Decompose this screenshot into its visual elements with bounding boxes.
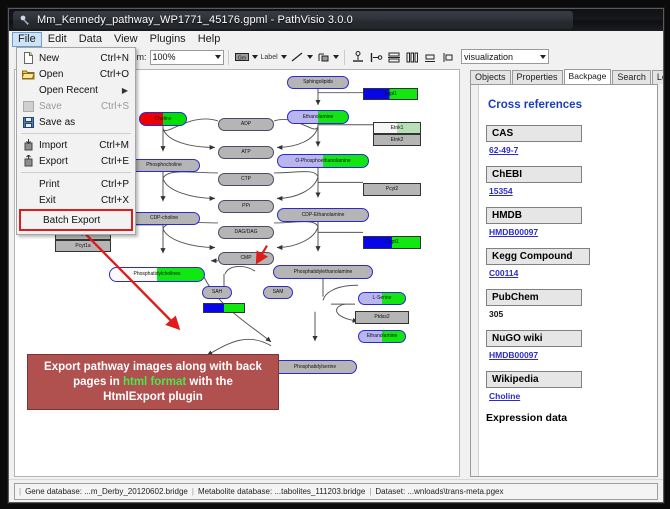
metabolite-cdp-ethanolamine[interactable]: CDP-Ethanolamine xyxy=(277,208,369,222)
menu-item-batch-export-label: Batch Export xyxy=(43,215,131,226)
xref-source-nugo: NuGO wiki xyxy=(486,330,582,347)
xref-value-wikipedia[interactable]: Choline xyxy=(489,391,649,401)
xref-value-hmdb[interactable]: HMDB00097 xyxy=(489,227,649,237)
blank-icon xyxy=(17,83,39,97)
label-tool-label[interactable]: Label xyxy=(259,54,280,61)
status-divider-2: | xyxy=(192,487,194,496)
gene-sgpl1[interactable]: Sgpl1 xyxy=(363,88,418,100)
toolbar-separator xyxy=(228,50,229,65)
title-chip: Mm_Kennedy_pathway_WP1771_45176.gpml - P… xyxy=(13,11,573,29)
menu-view[interactable]: View xyxy=(108,32,144,47)
metabolite-sah[interactable]: SAH xyxy=(202,286,232,299)
annotation-line2-pre: pages in xyxy=(73,376,123,388)
menu-help[interactable]: Help xyxy=(192,32,227,47)
export-icon xyxy=(17,154,39,168)
metabolite-o-phosphoethanolamine[interactable]: O-Phosphoethanolamine xyxy=(277,154,369,168)
metabolite-label: ADP xyxy=(241,122,251,127)
zoom-value: 100% xyxy=(153,52,176,62)
xref-value-chebi[interactable]: 15354 xyxy=(489,186,649,196)
metabolite-atp[interactable]: ATP xyxy=(218,146,274,159)
metabolite-label: O-Phosphoethanolamine xyxy=(295,159,350,164)
gene-ptdss2[interactable]: Ptdss2 xyxy=(355,311,409,324)
gene-label: Etnk1 xyxy=(391,126,404,131)
menu-plugins[interactable]: Plugins xyxy=(144,32,192,47)
metabolite-label: SAM xyxy=(273,290,284,295)
annotation-highlight: html format xyxy=(123,376,186,388)
metabolite-phosphatidylserine[interactable]: Phosphatidylserine xyxy=(273,360,357,374)
metabolite-cmp[interactable]: CMP xyxy=(218,252,274,265)
menu-item-print[interactable]: Print Ctrl+P xyxy=(17,176,135,192)
xref-source-kegg: Kegg Compound xyxy=(486,248,590,265)
import-icon xyxy=(17,138,39,152)
menu-item-new-accel: Ctrl+N xyxy=(100,53,135,64)
tab-legend[interactable]: Legend xyxy=(652,70,664,84)
status-gene-database: Gene database: ...m_Derby_20120602.bridg… xyxy=(25,487,188,496)
menu-item-export[interactable]: Export Ctrl+E xyxy=(17,153,135,169)
gene-label: Etnk2 xyxy=(391,138,404,143)
gene-etnk2[interactable]: Etnk2 xyxy=(373,134,421,146)
cross-references-heading: Cross references xyxy=(488,99,649,111)
stack-center-icon[interactable] xyxy=(386,49,402,65)
xref-source-cas: CAS xyxy=(486,125,582,142)
receptor-dropdown-icon[interactable] xyxy=(332,49,340,65)
annotation-line1: Export pathway images along with back xyxy=(44,361,262,373)
blank-icon-2 xyxy=(17,177,39,191)
metabolite-label: Sphingolipids xyxy=(303,80,333,85)
metabolite-label: Phosphatidylethanolamine xyxy=(294,270,353,275)
gene-etnk1[interactable]: Etnk1 xyxy=(373,122,421,134)
menu-item-open-label: Open xyxy=(39,69,100,80)
common-height-icon[interactable] xyxy=(440,49,456,65)
menu-file[interactable]: File xyxy=(12,32,42,47)
menu-item-save-accel: Ctrl+S xyxy=(101,101,135,112)
menu-item-export-accel: Ctrl+E xyxy=(101,156,135,167)
menu-item-save: Save Ctrl+S xyxy=(17,98,135,114)
status-bar-inner: | Gene database: ...m_Derby_20120602.bri… xyxy=(14,483,658,500)
backpage-panel: Cross references CAS 62-49-7 ChEBI 15354… xyxy=(470,84,658,477)
metabolite-label: L-Serine xyxy=(373,296,392,301)
menu-item-print-accel: Ctrl+P xyxy=(101,179,135,190)
pathvisio-icon xyxy=(19,14,31,26)
metabolite-adp[interactable]: ADP xyxy=(218,118,274,131)
metabolite-label: PPi xyxy=(242,204,250,209)
metabolite-l-serine[interactable]: L-Serine xyxy=(358,292,406,305)
common-width-icon[interactable] xyxy=(422,49,438,65)
metabolite-label: Ethanolamine xyxy=(303,115,334,120)
line-dropdown-icon[interactable] xyxy=(306,49,314,65)
title-bar: Mm_Kennedy_pathway_WP1771_45176.gpml - P… xyxy=(9,9,663,32)
save-as-icon xyxy=(17,115,39,129)
open-folder-icon xyxy=(17,67,39,81)
metabolite-label: CDP-choline xyxy=(150,216,178,221)
distribute-icon[interactable] xyxy=(404,49,420,65)
gene-product-dropdown-icon[interactable] xyxy=(251,49,259,65)
menu-item-open-recent[interactable]: Open Recent ▶ xyxy=(17,82,135,98)
menu-edit[interactable]: Edit xyxy=(42,32,73,47)
metabolite-ethanolamine-top[interactable]: Ethanolamine xyxy=(287,110,349,124)
align-left-icon[interactable] xyxy=(368,49,384,65)
xref-value-pubchem: 305 xyxy=(489,309,649,319)
annotation-banner: Export pathway images along with back pa… xyxy=(27,354,279,410)
metabolite-label: Phosphocholine xyxy=(146,163,182,168)
metabolite-phosphocholine[interactable]: Phosphocholine xyxy=(128,159,200,172)
menu-divider-2 xyxy=(21,172,131,173)
menu-item-export-label: Export xyxy=(39,156,101,167)
blank-icon-4 xyxy=(21,213,43,227)
label-dropdown-icon[interactable] xyxy=(280,49,288,65)
gene-methyltransferase[interactable] xyxy=(203,303,245,313)
metabolite-phosphatidylethanolamine[interactable]: Phosphatidylethanolamine xyxy=(273,265,373,279)
backpage-scrollbar[interactable] xyxy=(471,85,479,476)
metabolite-label: Phosphatidylcholines xyxy=(134,272,181,277)
metabolite-label: Choline xyxy=(155,117,172,122)
line-icon[interactable] xyxy=(289,49,305,65)
menu-item-batch-export[interactable]: Batch Export xyxy=(21,212,131,228)
backpage-content: Cross references CAS 62-49-7 ChEBI 15354… xyxy=(480,85,657,476)
menu-item-batch-export-highlight[interactable]: Batch Export xyxy=(19,209,133,231)
save-icon xyxy=(17,99,39,113)
status-bar: | Gene database: ...m_Derby_20120602.bri… xyxy=(9,479,663,502)
gene-label: Pcyt1a xyxy=(75,244,90,249)
expression-data-heading: Expression data xyxy=(486,412,649,424)
metabolite-label: CMP xyxy=(240,256,251,261)
zoom-combo[interactable]: 100% xyxy=(150,50,224,65)
xref-value-cas[interactable]: 62-49-7 xyxy=(489,145,649,155)
status-divider-3: | xyxy=(369,487,371,496)
metabolite-label: DAG/DAG xyxy=(234,230,257,235)
metabolite-phosphatidylcholines[interactable]: Phosphatidylcholines xyxy=(109,267,205,282)
metabolite-ppi[interactable]: PPi xyxy=(218,200,274,213)
tab-backpage[interactable]: Backpage xyxy=(564,69,612,84)
status-divider: | xyxy=(19,487,21,496)
menu-item-exit-label: Exit xyxy=(39,195,101,206)
menu-item-import-label: Import xyxy=(39,140,99,151)
xref-source-chebi: ChEBI xyxy=(486,166,582,183)
tab-search[interactable]: Search xyxy=(612,70,651,84)
gene-label: Ptdss2 xyxy=(374,315,389,320)
visualization-combo[interactable]: visualization xyxy=(461,49,549,64)
visualization-value: visualization xyxy=(464,52,513,62)
metabolite-label: Ethanolamine xyxy=(367,334,398,339)
menu-item-save-as-label: Save as xyxy=(39,117,129,128)
gene-label: Cept1 xyxy=(385,240,398,245)
annotation-line3: HtmlExport plugin xyxy=(103,391,203,403)
new-file-icon xyxy=(17,51,39,65)
gene-pcyt2[interactable]: Pcyt2 xyxy=(363,183,421,196)
application-window: Mm_Kennedy_pathway_WP1771_45176.gpml - P… xyxy=(8,8,664,503)
menu-item-print-label: Print xyxy=(39,179,101,190)
metabolite-ctp[interactable]: CTP xyxy=(218,173,274,186)
xref-source-wikipedia: Wikipedia xyxy=(486,371,582,388)
menu-item-open[interactable]: Open Ctrl+O xyxy=(17,66,135,82)
menu-item-import-accel: Ctrl+M xyxy=(99,140,135,151)
align-top-icon[interactable] xyxy=(350,49,366,65)
menu-item-save-as[interactable]: Save as xyxy=(17,114,135,130)
gene-label: Sgpl1 xyxy=(384,92,397,97)
side-panel-tabs[interactable]: Objects Properties Backpage Search Legen… xyxy=(470,69,660,84)
xref-value-nugo[interactable]: HMDB00097 xyxy=(489,350,649,360)
menu-item-new[interactable]: New Ctrl+N xyxy=(17,50,135,66)
menu-divider-1 xyxy=(21,133,131,134)
gene-label: Pcyt2 xyxy=(386,187,399,192)
xref-source-hmdb: HMDB xyxy=(486,207,582,224)
tab-objects[interactable]: Objects xyxy=(470,70,511,84)
menu-item-import[interactable]: Import Ctrl+M xyxy=(17,137,135,153)
status-metabolite-database: Metabolite database: ...tabolites_111203… xyxy=(198,487,365,496)
gene-cept1[interactable]: Cept1 xyxy=(363,236,421,249)
screenshot-root: Mm_Kennedy_pathway_WP1771_45176.gpml - P… xyxy=(0,0,670,509)
metabolite-label: ATP xyxy=(241,150,250,155)
metabolite-label: CTP xyxy=(241,177,251,182)
file-menu-dropdown[interactable]: New Ctrl+N Open Ctrl+O Open Recent ▶ Sav… xyxy=(16,47,136,235)
side-panel: Objects Properties Backpage Search Legen… xyxy=(462,69,660,477)
menu-item-save-label: Save xyxy=(39,101,101,112)
metabolite-dag[interactable]: DAG/DAG xyxy=(218,226,274,239)
metabolite-ethanolamine-bottom[interactable]: Ethanolamine xyxy=(358,330,406,343)
metabolite-sam[interactable]: SAM xyxy=(263,286,293,299)
receptor-icon[interactable] xyxy=(315,49,331,65)
submenu-arrow-icon: ▶ xyxy=(122,86,135,95)
metabolite-cdp-choline[interactable]: CDP-choline xyxy=(128,212,200,225)
xref-source-pubchem: PubChem xyxy=(486,289,582,306)
metabolite-label: CDP-Ethanolamine xyxy=(302,213,345,218)
blank-icon-3 xyxy=(17,193,39,207)
metabolite-label: SAH xyxy=(212,290,222,295)
menu-item-open-accel: Ctrl+O xyxy=(100,69,135,80)
metabolite-sphingolipids[interactable]: Sphingolipids xyxy=(287,76,349,89)
menu-data[interactable]: Data xyxy=(73,32,108,47)
tab-properties[interactable]: Properties xyxy=(512,70,563,84)
svg-text:Gm: Gm xyxy=(237,55,245,61)
annotation-line2-post: with the xyxy=(186,376,233,388)
status-dataset: Dataset: ...wnloads\trans-meta.pgex xyxy=(375,487,503,496)
menu-bar[interactable]: File Edit Data View Plugins Help xyxy=(9,31,663,48)
metabolite-label: Phosphatidylserine xyxy=(294,365,336,370)
menu-item-open-recent-label: Open Recent xyxy=(39,85,122,96)
chevron-down-icon-2 xyxy=(540,55,546,59)
menu-item-exit[interactable]: Exit Ctrl+X xyxy=(17,192,135,208)
gene-pcyt1a[interactable]: Pcyt1a xyxy=(55,240,111,252)
chevron-down-icon xyxy=(215,55,221,59)
menu-item-exit-accel: Ctrl+X xyxy=(101,195,135,206)
xref-value-kegg[interactable]: C00114 xyxy=(489,268,649,278)
toolbar-separator-2 xyxy=(344,50,345,65)
gene-product-icon[interactable]: Gm xyxy=(234,49,250,65)
metabolite-choline-top[interactable]: Choline xyxy=(139,112,187,126)
window-title: Mm_Kennedy_pathway_WP1771_45176.gpml - P… xyxy=(37,14,353,26)
menu-item-new-label: New xyxy=(39,53,100,64)
